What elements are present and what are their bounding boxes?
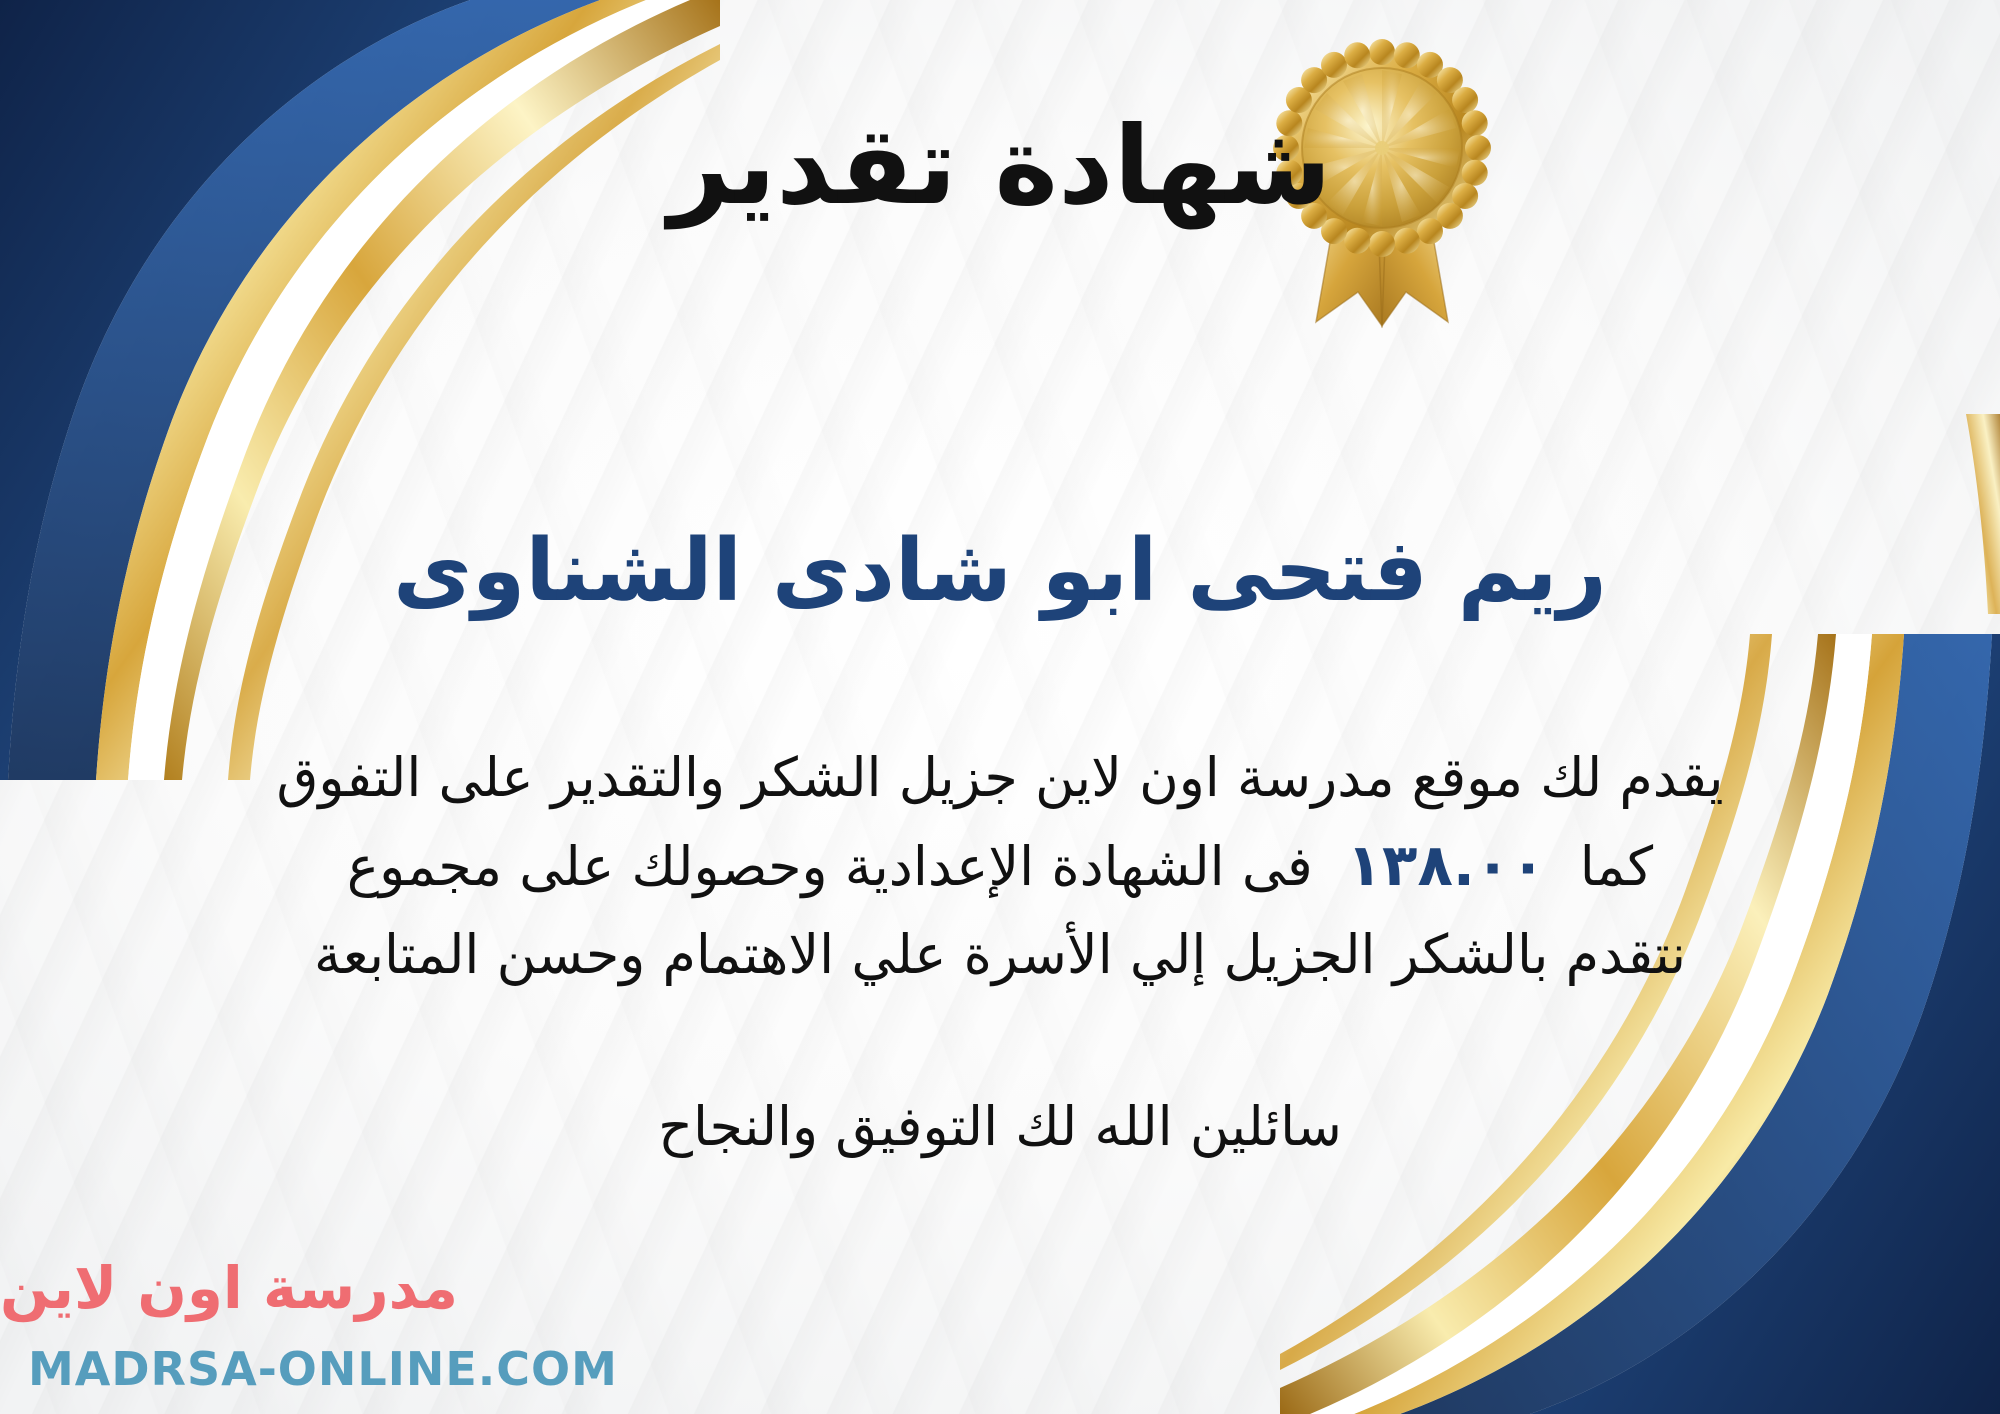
recipient-name: ريم فتحى ابو شادى الشناوى [0, 520, 2000, 623]
grade-total-value: ١٣٨.٠٠ [1347, 820, 1546, 912]
body-line-1: يقدم لك موقع مدرسة اون لاين جزيل الشكر و… [55, 735, 1945, 820]
certificate-title: شهادة تقدير [0, 105, 2000, 229]
closing-wishes: سائلين الله لك التوفيق والنجاح [0, 1095, 2000, 1158]
certificate-content: شهادة تقدير ريم فتحى ابو شادى الشناوى يق… [0, 0, 2000, 1414]
certificate-body: يقدم لك موقع مدرسة اون لاين جزيل الشكر و… [55, 735, 1945, 997]
brand-logo[interactable]: مدرسة اون لاين MADRSA-ONLINE [28, 1242, 458, 1392]
body-line-2-prefix: فى الشهادة الإعدادية وحصولك على مجموع [347, 824, 1313, 909]
brand-logo-row: مدرسة اون لاين [28, 1242, 458, 1334]
body-line-3: نتقدم بالشكر الجزيل إلي الأسرة علي الاهت… [55, 912, 1945, 997]
body-line-2: كما ١٣٨.٠٠ فى الشهادة الإعدادية وحصولك ع… [55, 820, 1945, 912]
brand-website-url[interactable]: MADRSA-ONLINE.COM [28, 1342, 458, 1396]
brand-arabic-name: مدرسة اون لاين [0, 1259, 458, 1317]
certificate-canvas: شهادة تقدير ريم فتحى ابو شادى الشناوى يق… [0, 0, 2000, 1414]
body-line-2-suffix: كما [1580, 824, 1653, 909]
